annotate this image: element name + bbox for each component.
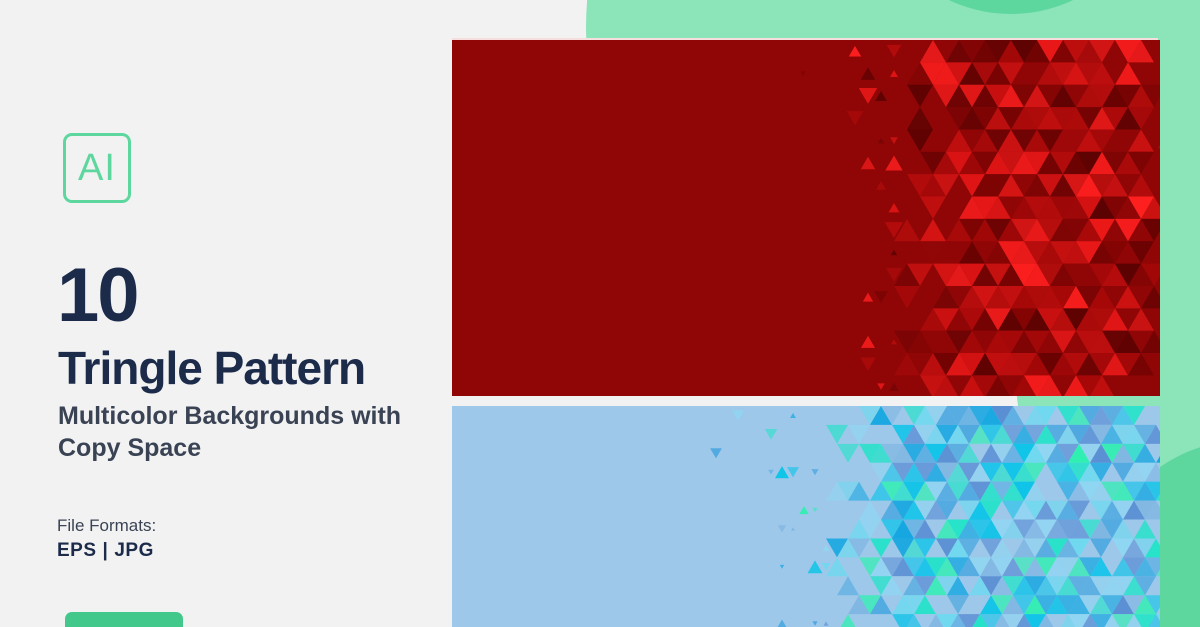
red-triangle-pattern-preview — [452, 40, 1160, 396]
poster-canvas: AI 10 Tringle Pattern Multicolor Backgro… — [0, 0, 1200, 627]
decorative-circle-green-top — [866, 0, 1156, 14]
page-title-count: 10 — [57, 258, 138, 334]
ai-badge-label: AI — [78, 149, 116, 187]
page-subtitle: Multicolor Backgrounds with Copy Space — [58, 400, 448, 464]
file-format-jpg: JPG — [114, 540, 154, 561]
file-format-eps: EPS — [57, 540, 97, 561]
blue-triangle-pattern-preview — [452, 406, 1160, 627]
file-format-separator: | — [97, 540, 115, 561]
info-panel: AI 10 Tringle Pattern Multicolor Backgro… — [0, 0, 452, 627]
ai-badge: AI — [63, 133, 131, 203]
red-pattern-svg — [452, 40, 1160, 396]
cta-button[interactable] — [65, 612, 183, 627]
file-formats-value: EPS|JPG — [57, 541, 154, 560]
blue-pattern-svg — [452, 406, 1160, 627]
file-formats-label: File Formats: — [57, 517, 156, 534]
page-title: Tringle Pattern — [58, 345, 365, 391]
